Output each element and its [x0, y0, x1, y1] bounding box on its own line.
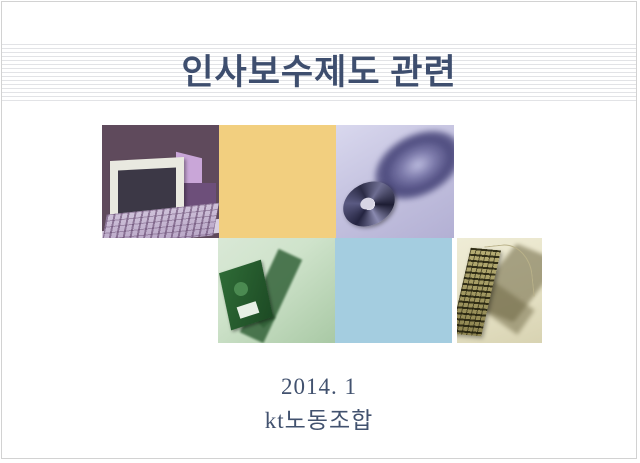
keyboard-photo — [457, 238, 542, 343]
gold-color-block — [219, 125, 336, 238]
footer-date: 2014. 1 — [2, 370, 636, 404]
floppy-disk-photo — [218, 238, 335, 343]
blue-color-block — [335, 238, 452, 343]
slide-footer: 2014. 1 kt노동조합 — [2, 370, 636, 438]
page-title: 인사보수제도 관련 — [2, 46, 636, 100]
presentation-slide: 인사보수제도 관련 — [1, 1, 637, 459]
image-collage-grid — [102, 125, 542, 343]
footer-organization: kt노동조합 — [2, 404, 636, 438]
computer-monitor-photo — [102, 125, 219, 238]
compact-disc-photo — [336, 125, 454, 238]
